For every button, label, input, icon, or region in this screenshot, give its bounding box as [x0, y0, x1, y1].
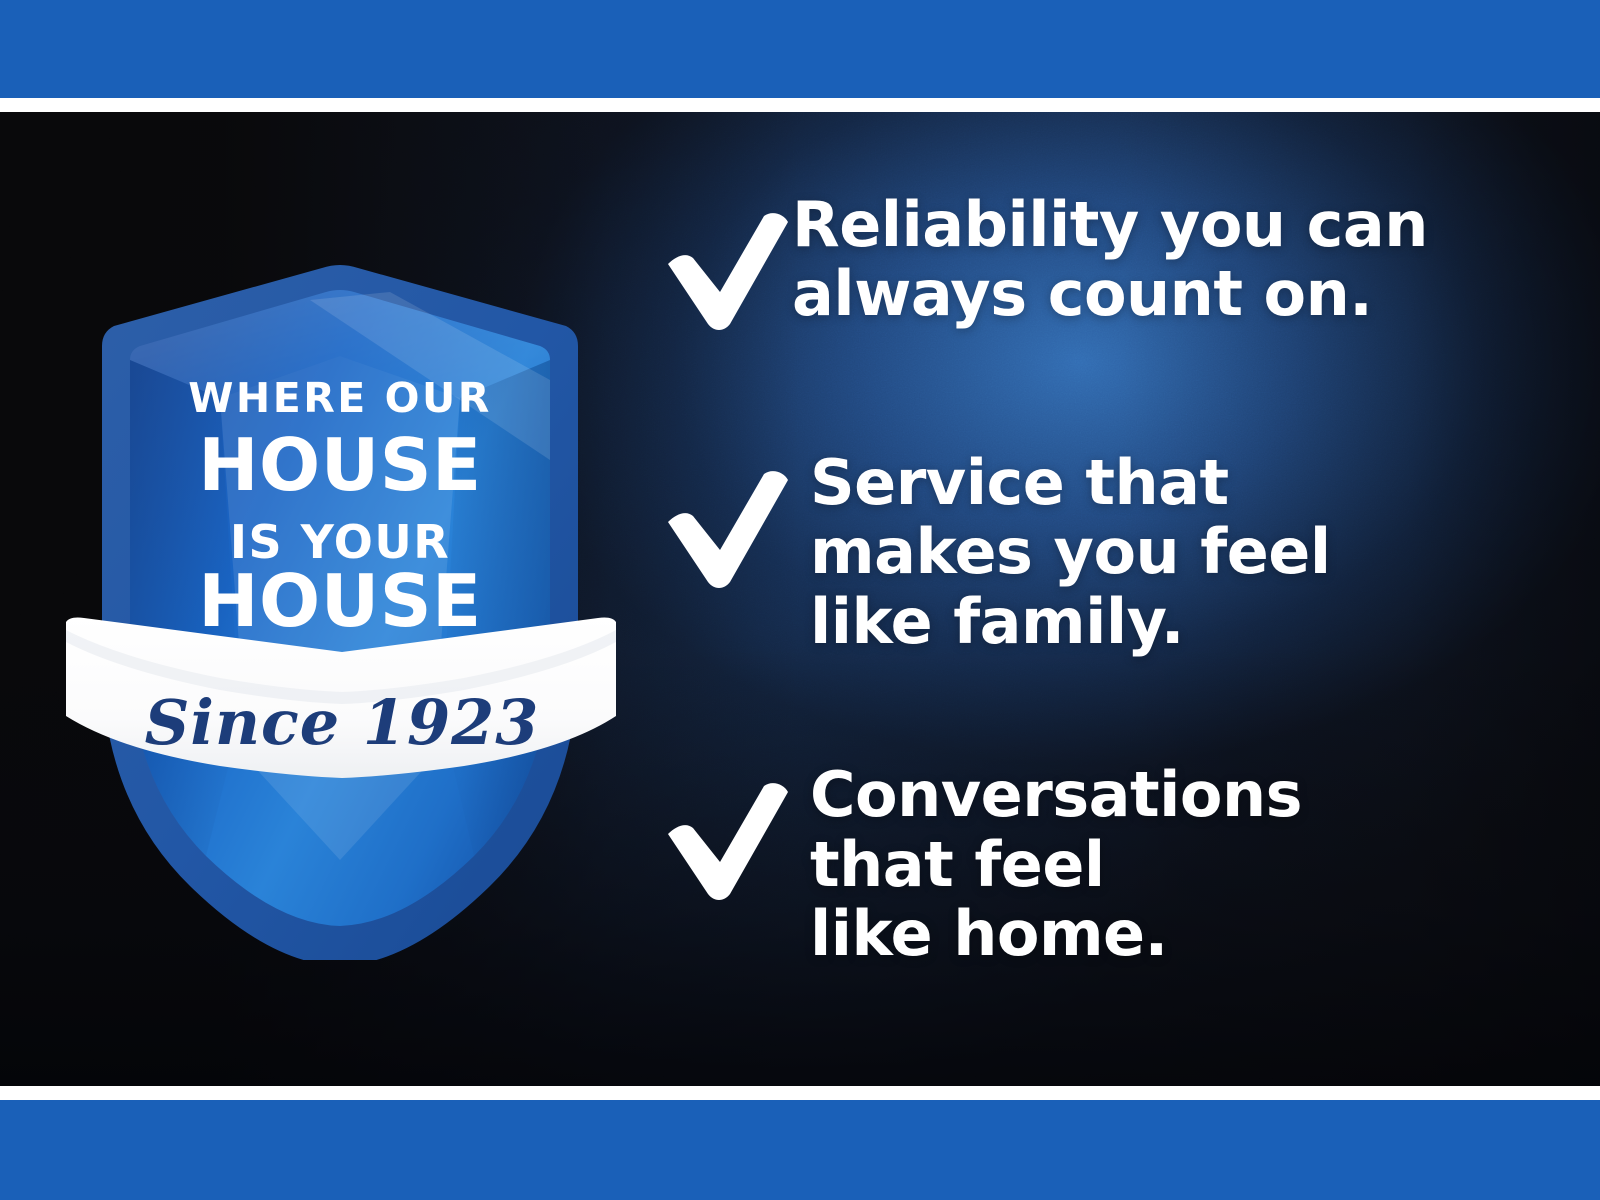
benefits-checklist: Reliability you can always count on. Ser…	[660, 190, 1540, 969]
list-item: Reliability you can always count on.	[660, 190, 1540, 330]
top-brand-bar	[0, 0, 1600, 98]
ribbon-since-text: Since 1923	[145, 686, 540, 759]
list-item: Conversations that feel like home.	[660, 760, 1540, 968]
list-item-text: Conversations that feel like home.	[810, 760, 1302, 968]
list-item: Service that makes you feel like family.	[660, 448, 1540, 656]
check-icon	[660, 782, 796, 900]
shield-line-2: HOUSE	[198, 423, 481, 507]
check-icon	[660, 212, 796, 330]
check-icon	[660, 470, 796, 588]
brand-shield-logo: WHERE OUR HOUSE IS YOUR HOUSE Since 1923	[60, 160, 620, 960]
shield-line-4: HOUSE	[198, 559, 481, 643]
list-item-text: Reliability you can always count on.	[792, 190, 1428, 329]
shield-line-1: WHERE OUR	[188, 374, 492, 422]
promo-graphic-canvas: WHERE OUR HOUSE IS YOUR HOUSE Since 1923…	[0, 0, 1600, 1200]
top-white-rule	[0, 98, 1600, 112]
bottom-white-rule	[0, 1086, 1600, 1100]
list-item-text: Service that makes you feel like family.	[810, 448, 1331, 656]
bottom-brand-bar	[0, 1100, 1600, 1200]
